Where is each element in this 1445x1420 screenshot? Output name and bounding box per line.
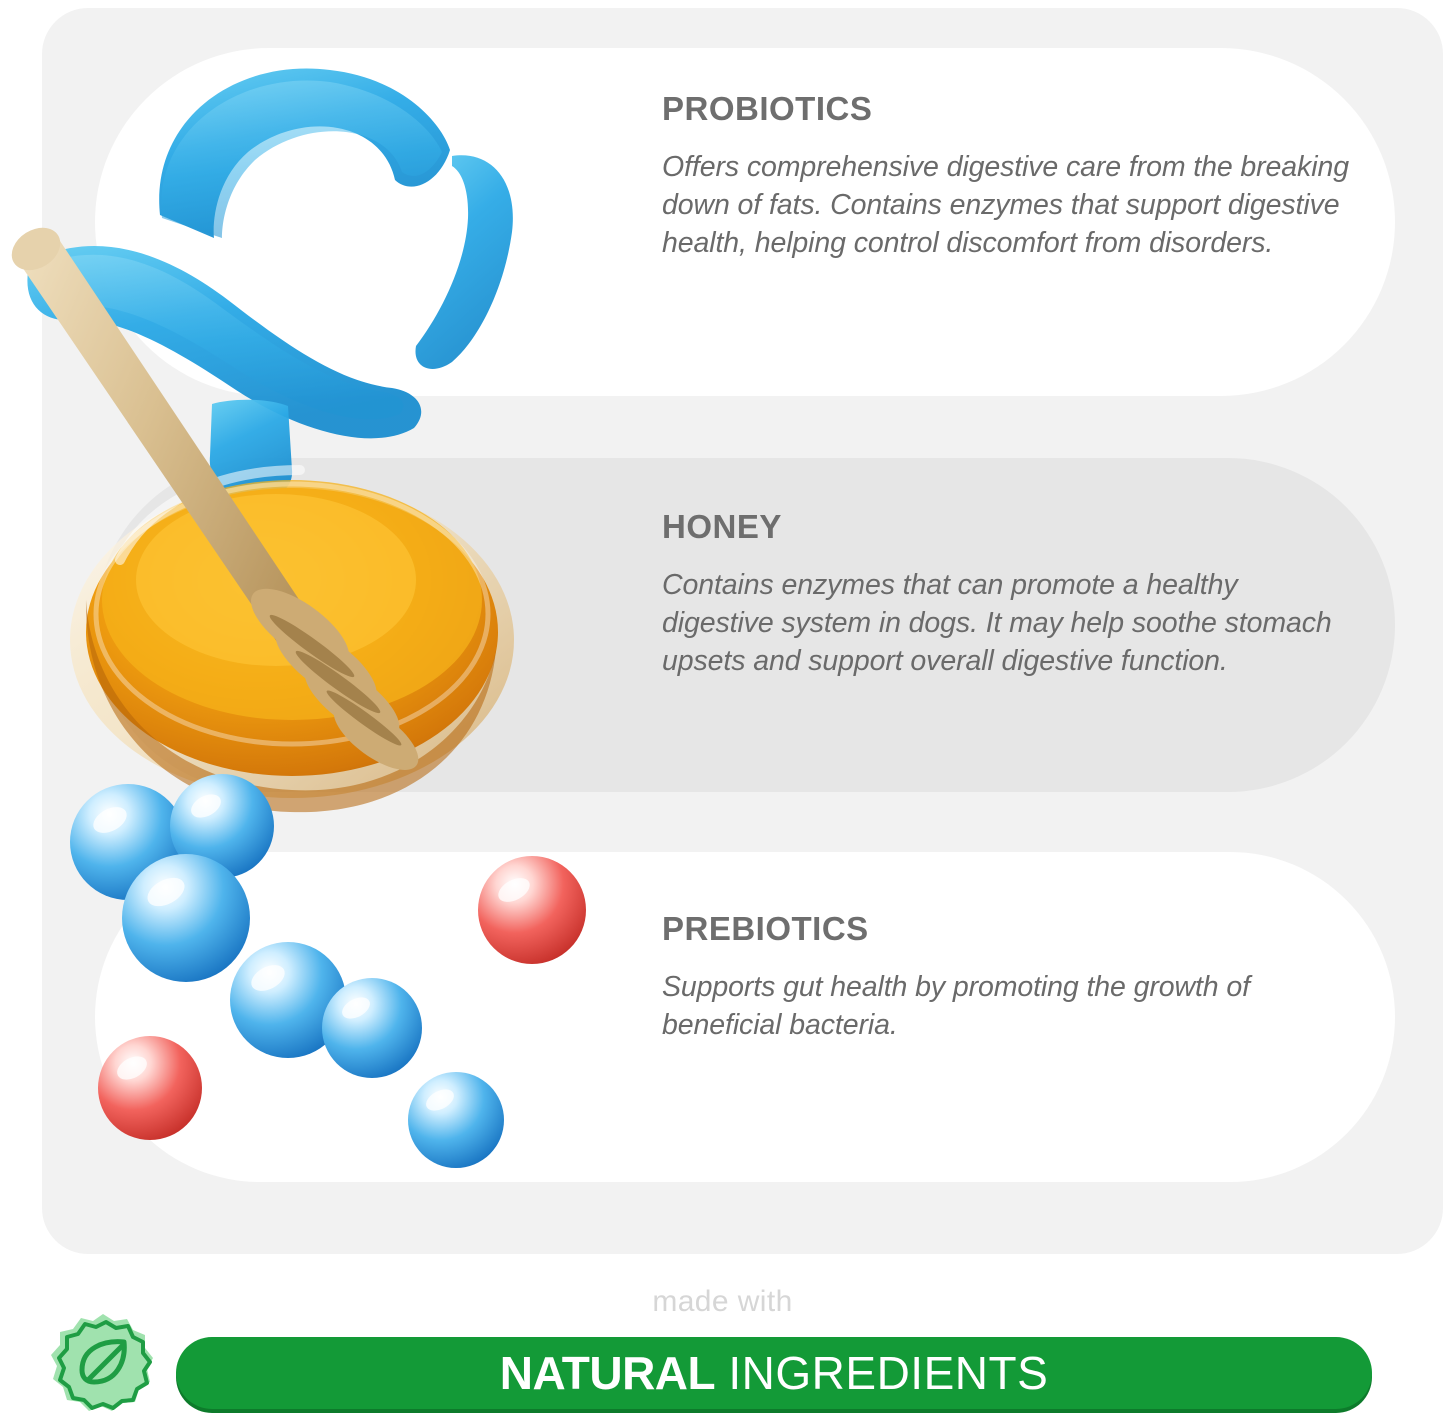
panel-prebiotics-title: PREBIOTICS — [662, 912, 1352, 945]
made-with-label: made with — [0, 1285, 1445, 1319]
panel-prebiotics-text: PREBIOTICS Supports gut health by promot… — [662, 912, 1352, 1045]
panel-prebiotics-body: Supports gut health by promoting the gro… — [662, 969, 1352, 1045]
banner-label: NATURAL INGREDIENTS — [500, 1346, 1049, 1400]
panel-probiotics: PROBIOTICS Offers comprehensive digestiv… — [95, 48, 1395, 396]
panel-honey-text: HONEY Contains enzymes that can promote … — [662, 510, 1352, 681]
panel-prebiotics: PREBIOTICS Supports gut health by promot… — [95, 852, 1395, 1182]
natural-leaf-badge-icon — [44, 1308, 162, 1420]
panel-probiotics-body: Offers comprehensive digestive care from… — [662, 149, 1352, 263]
panel-honey: HONEY Contains enzymes that can promote … — [95, 458, 1395, 792]
panel-probiotics-text: PROBIOTICS Offers comprehensive digestiv… — [662, 92, 1352, 263]
natural-ingredients-banner: NATURAL INGREDIENTS — [176, 1337, 1372, 1409]
panel-honey-title: HONEY — [662, 510, 1352, 543]
banner-strong-text: NATURAL — [500, 1347, 715, 1399]
panel-probiotics-title: PROBIOTICS — [662, 92, 1352, 125]
banner-light-text: INGREDIENTS — [715, 1347, 1048, 1399]
infographic-root: PROBIOTICS Offers comprehensive digestiv… — [0, 0, 1445, 1420]
panel-honey-body: Contains enzymes that can promote a heal… — [662, 567, 1352, 681]
